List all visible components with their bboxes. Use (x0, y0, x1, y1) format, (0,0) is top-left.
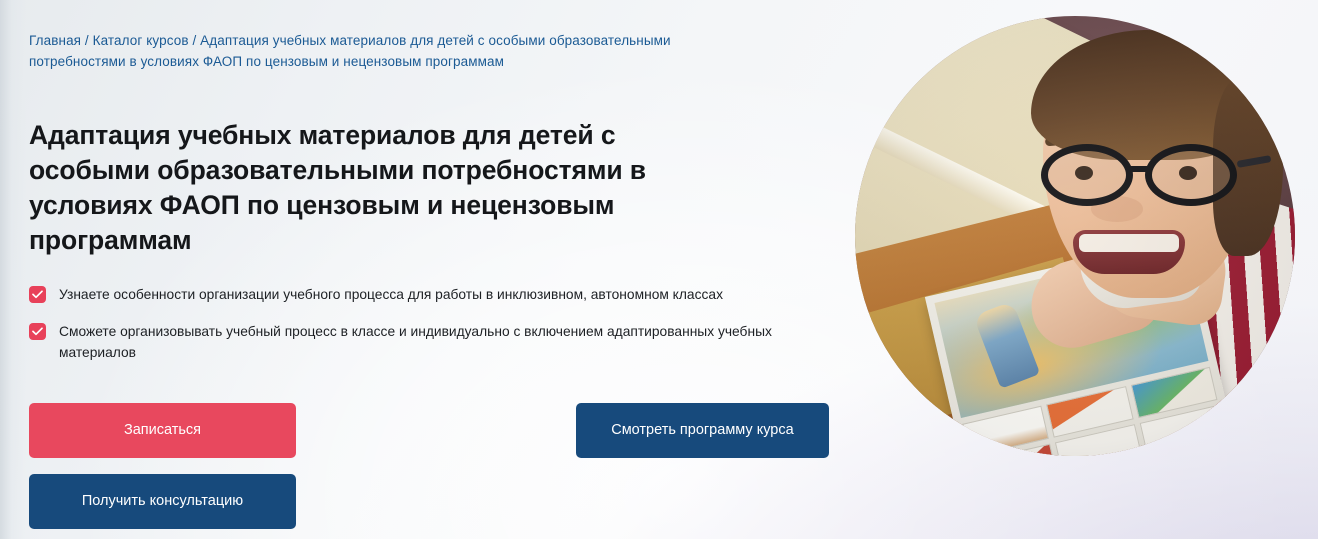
page-title: Адаптация учебных материалов для детей с… (29, 118, 709, 258)
hero-content: Главная / Каталог курсов / Адаптация уче… (29, 0, 829, 529)
consultation-button[interactable]: Получить консультацию (29, 474, 296, 529)
enroll-button[interactable]: Записаться (29, 403, 296, 458)
list-item: Узнаете особенности организации учебного… (29, 284, 829, 305)
course-hero-photo (855, 16, 1295, 456)
cta-row: Записаться Получить консультацию Смотрет… (29, 403, 829, 529)
photo-composition (855, 16, 1295, 456)
check-icon (29, 286, 46, 303)
breadcrumb[interactable]: Главная / Каталог курсов / Адаптация уче… (29, 30, 701, 72)
view-program-button[interactable]: Смотреть программу курса (576, 403, 829, 458)
photo-vignette (855, 16, 1295, 456)
check-icon (29, 323, 46, 340)
benefits-list: Узнаете особенности организации учебного… (29, 284, 829, 363)
benefit-text: Узнаете особенности организации учебного… (59, 284, 723, 305)
list-item: Сможете организовывать учебный процесс в… (29, 321, 829, 363)
cta-left-column: Записаться Получить консультацию (29, 403, 548, 529)
benefit-text: Сможете организовывать учебный процесс в… (59, 321, 779, 363)
